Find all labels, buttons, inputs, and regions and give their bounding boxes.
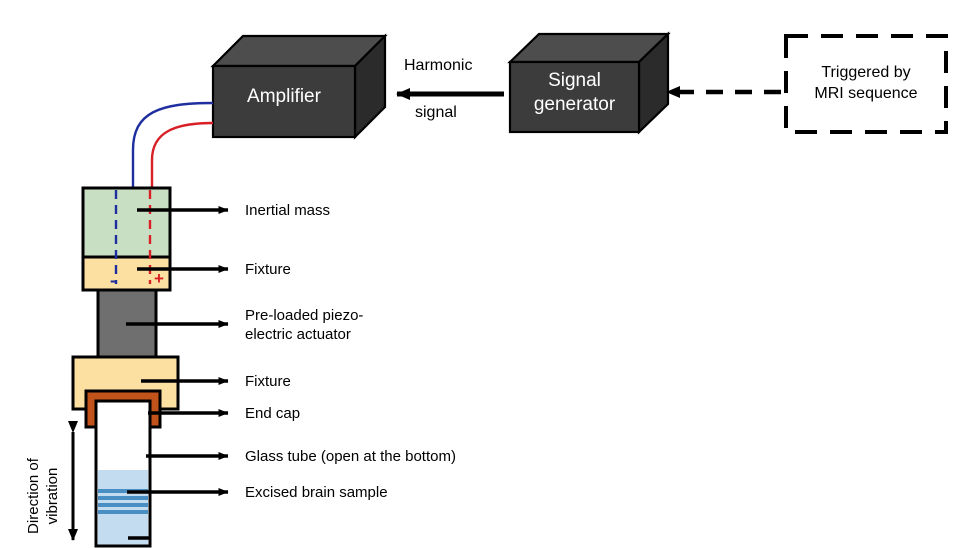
inertial-mass-block[interactable] (83, 188, 170, 257)
harmonic-label: Harmonic (404, 57, 472, 75)
wire-positive (152, 123, 213, 188)
trigger-label: Triggered by MRI sequence (786, 62, 946, 104)
label-fixture-bottom: Fixture (245, 372, 291, 391)
signal-label: signal (415, 104, 457, 122)
label-end-cap: End cap (245, 404, 300, 423)
amplifier-label: Amplifier (213, 85, 355, 109)
label-piezo-actuator: Pre-loaded piezo- electric actuator (245, 306, 363, 344)
signal-generator-label: Signal generator (510, 69, 639, 117)
polarity-negative-sign: - (110, 272, 116, 289)
brain-sample-fill[interactable] (98, 470, 148, 546)
label-brain-sample: Excised brain sample (245, 483, 388, 502)
label-inertial-mass: Inertial mass (245, 201, 330, 220)
label-fixture-top: Fixture (245, 260, 291, 279)
polarity-positive-sign: + (154, 270, 164, 287)
wire-negative (133, 103, 213, 188)
diagram-canvas: Amplifier Signal generator Triggered by … (0, 0, 961, 548)
label-glass-tube: Glass tube (open at the bottom) (245, 447, 456, 466)
vibration-direction-label: Direction of vibration (24, 436, 62, 548)
